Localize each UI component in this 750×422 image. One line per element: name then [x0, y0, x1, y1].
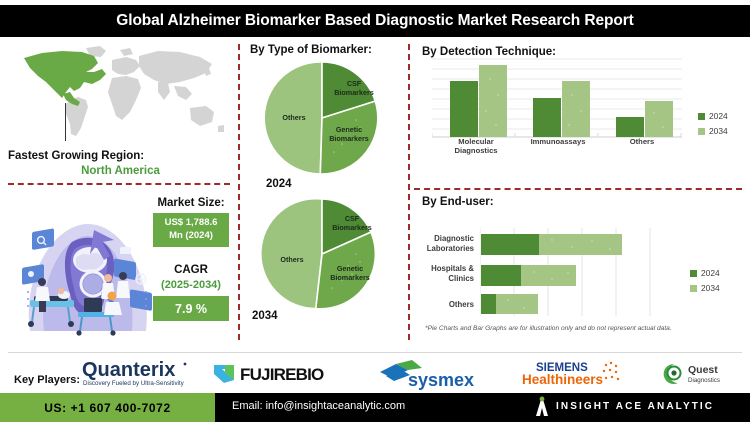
svg-text:Quest: Quest	[688, 364, 718, 376]
pie-chart-2034: CSF Biomarkers Genetic Biomarkers Others	[256, 196, 388, 314]
footer-email: Email: info@insightaceanalytic.com	[232, 400, 405, 412]
legend-item-2024: 2024	[698, 111, 728, 121]
market-size-unit: Mn (2024)	[169, 230, 213, 243]
legend-item-2024-enduser: 2024	[690, 268, 720, 278]
legend-item-2034: 2034	[698, 126, 728, 136]
svg-text:CSF: CSF	[347, 79, 362, 88]
cagr-period: (2025-2034)	[148, 279, 234, 291]
y-label-text-0: Diagnostic Laboratories	[427, 234, 474, 253]
report-title-bar: Global Alzheimer Biomarker Based Diagnos…	[30, 5, 720, 37]
legend-swatch-2034-enduser	[690, 285, 697, 292]
svg-text:Biomarkers: Biomarkers	[334, 88, 374, 97]
y-label-text-1: Hospitals & Clinics	[431, 264, 474, 283]
market-size-value: US$ 1,788.6	[165, 217, 218, 230]
section-heading-biomarker-type: By Type of Biomarker:	[250, 44, 372, 56]
legend-detection-technique: 2024 2034	[698, 111, 728, 141]
svg-text:Diagnostics: Diagnostics	[688, 377, 720, 384]
footer-brand-name: INSIGHT ACE ANALYTIC	[556, 401, 714, 412]
legend-swatch-2034	[698, 128, 705, 135]
key-players-label: Key Players:	[14, 374, 80, 386]
key-players-divider	[8, 352, 742, 353]
header-left-block	[0, 5, 30, 37]
pie-chart-2034-year: 2034	[252, 310, 278, 322]
svg-text:Biomarkers: Biomarkers	[332, 223, 372, 232]
logo-sysmex: sysmex	[378, 360, 486, 390]
svg-text:Quanterix: Quanterix	[82, 359, 175, 381]
y-label-hospitals-clinics: Hospitals & Clinics	[412, 264, 474, 283]
chart-disclaimer: *Pie Charts and Bar Graphs are for illus…	[425, 325, 745, 332]
svg-text:Others: Others	[282, 113, 305, 122]
svg-text:Biomarkers: Biomarkers	[330, 273, 370, 282]
divider-horizontal-right	[414, 188, 742, 190]
pie-chart-2024: CSF Biomarkers Genetic Biomarkers Others	[256, 58, 388, 178]
brand-logo-icon	[533, 396, 551, 418]
logo-quanterix: Quanterix Discovery Fueled by Ultra-Sens…	[82, 358, 194, 388]
legend-end-user: 2024 2034	[690, 268, 720, 298]
svg-text:sysmex: sysmex	[408, 370, 474, 390]
legend-label-2024: 2024	[709, 111, 728, 121]
x-label-immunoassays: Immunoassays	[522, 137, 594, 146]
detection-technique-chart	[432, 57, 722, 142]
world-map	[8, 42, 233, 142]
logo-siemens-healthineers: SIEMENS Healthineers	[522, 359, 628, 389]
footer-phone-block: US: +1 607 400-7072	[0, 393, 215, 422]
page-title: Global Alzheimer Biomarker Based Diagnos…	[116, 12, 633, 30]
cagr-label: CAGR	[148, 264, 234, 276]
market-size-value-box: US$ 1,788.6 Mn (2024)	[153, 213, 229, 247]
x-label-molecular-diagnostics: Molecular Diagnostics	[440, 137, 512, 156]
legend-label-2024-enduser: 2024	[701, 268, 720, 278]
legend-item-2034-enduser: 2034	[690, 283, 720, 293]
x-label-others: Others	[606, 137, 678, 146]
logo-quest-diagnostics: Quest Diagnostics	[660, 362, 742, 388]
svg-text:Biomarkers: Biomarkers	[329, 134, 369, 143]
y-label-others: Others	[412, 300, 474, 310]
cagr-value: 7.9 %	[175, 302, 207, 316]
y-label-diagnostic-laboratories: Diagnostic Laboratories	[412, 234, 474, 253]
divider-vertical-right	[408, 44, 410, 340]
pie-chart-2024-year: 2024	[266, 178, 292, 190]
legend-label-2034: 2034	[709, 126, 728, 136]
diagnostics-illustration	[10, 196, 165, 341]
cagr-value-box: 7.9 %	[153, 296, 229, 321]
north-america-highlight	[24, 51, 106, 106]
svg-text:Genetic: Genetic	[337, 264, 363, 273]
legend-swatch-2024-enduser	[690, 270, 697, 277]
divider-horizontal-left	[8, 183, 230, 185]
end-user-chart	[480, 228, 690, 320]
svg-text:Genetic: Genetic	[336, 125, 362, 134]
infographic-root: Global Alzheimer Biomarker Based Diagnos…	[0, 0, 750, 422]
svg-text:CSF: CSF	[345, 214, 360, 223]
legend-swatch-2024	[698, 113, 705, 120]
footer-phone: US: +1 607 400-7072	[44, 401, 170, 415]
divider-vertical-left	[238, 44, 240, 340]
svg-text:Others: Others	[280, 255, 303, 264]
svg-text:Discovery Fueled by Ultra-Sens: Discovery Fueled by Ultra-Sensitivity	[83, 380, 185, 387]
fastest-growing-region-value: North America	[8, 165, 233, 177]
svg-text:Healthineers: Healthineers	[522, 372, 603, 387]
detection-technique-x-axis: Molecular Diagnostics Immunoassays Other…	[432, 137, 682, 167]
legend-label-2034-enduser: 2034	[701, 283, 720, 293]
fastest-growing-region-label: Fastest Growing Region:	[8, 150, 233, 162]
svg-text:FUJIREBIO: FUJIREBIO	[240, 365, 324, 384]
y-label-text-2: Others	[449, 300, 474, 309]
market-size-label: Market Size:	[148, 197, 234, 209]
map-leader-line	[65, 103, 66, 141]
section-heading-end-user: By End-user:	[422, 196, 494, 208]
logo-fujirebio: FUJIREBIO	[212, 362, 336, 386]
header-right-block	[720, 5, 750, 37]
